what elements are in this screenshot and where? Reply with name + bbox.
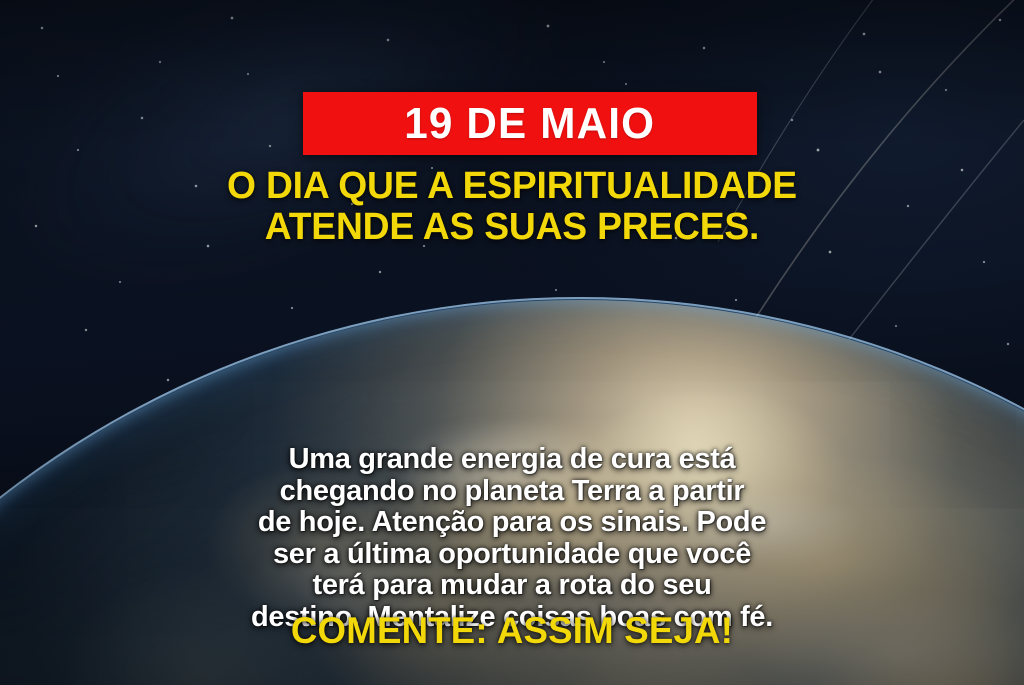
poster-content: 19 DE MAIO O DIA QUE A ESPIRITUALIDADE A… [0, 0, 1024, 685]
body-paragraph: Uma grande energia de cura está chegando… [0, 444, 1024, 634]
poster-canvas: 19 DE MAIO O DIA QUE A ESPIRITUALIDADE A… [0, 0, 1024, 685]
body-line-2: chegando no planeta Terra a partir [60, 476, 964, 508]
body-line-3: de hoje. Atenção para os sinais. Pode [60, 507, 964, 539]
call-to-action-text: COMENTE: ASSIM SEJA! [5, 612, 1019, 649]
headline-line-2: ATENDE AS SUAS PRECES. [49, 207, 974, 248]
headline: O DIA QUE A ESPIRITUALIDADE ATENDE AS SU… [10, 166, 1014, 247]
body-line-1: Uma grande energia de cura está [60, 444, 964, 476]
body-line-4: ser a última oportunidade que você [60, 539, 964, 571]
date-banner-label: 19 DE MAIO [405, 102, 656, 146]
date-banner: 19 DE MAIO [303, 92, 757, 155]
headline-line-1: O DIA QUE A ESPIRITUALIDADE [49, 166, 974, 207]
body-line-5: terá para mudar a rota do seu [60, 570, 964, 602]
